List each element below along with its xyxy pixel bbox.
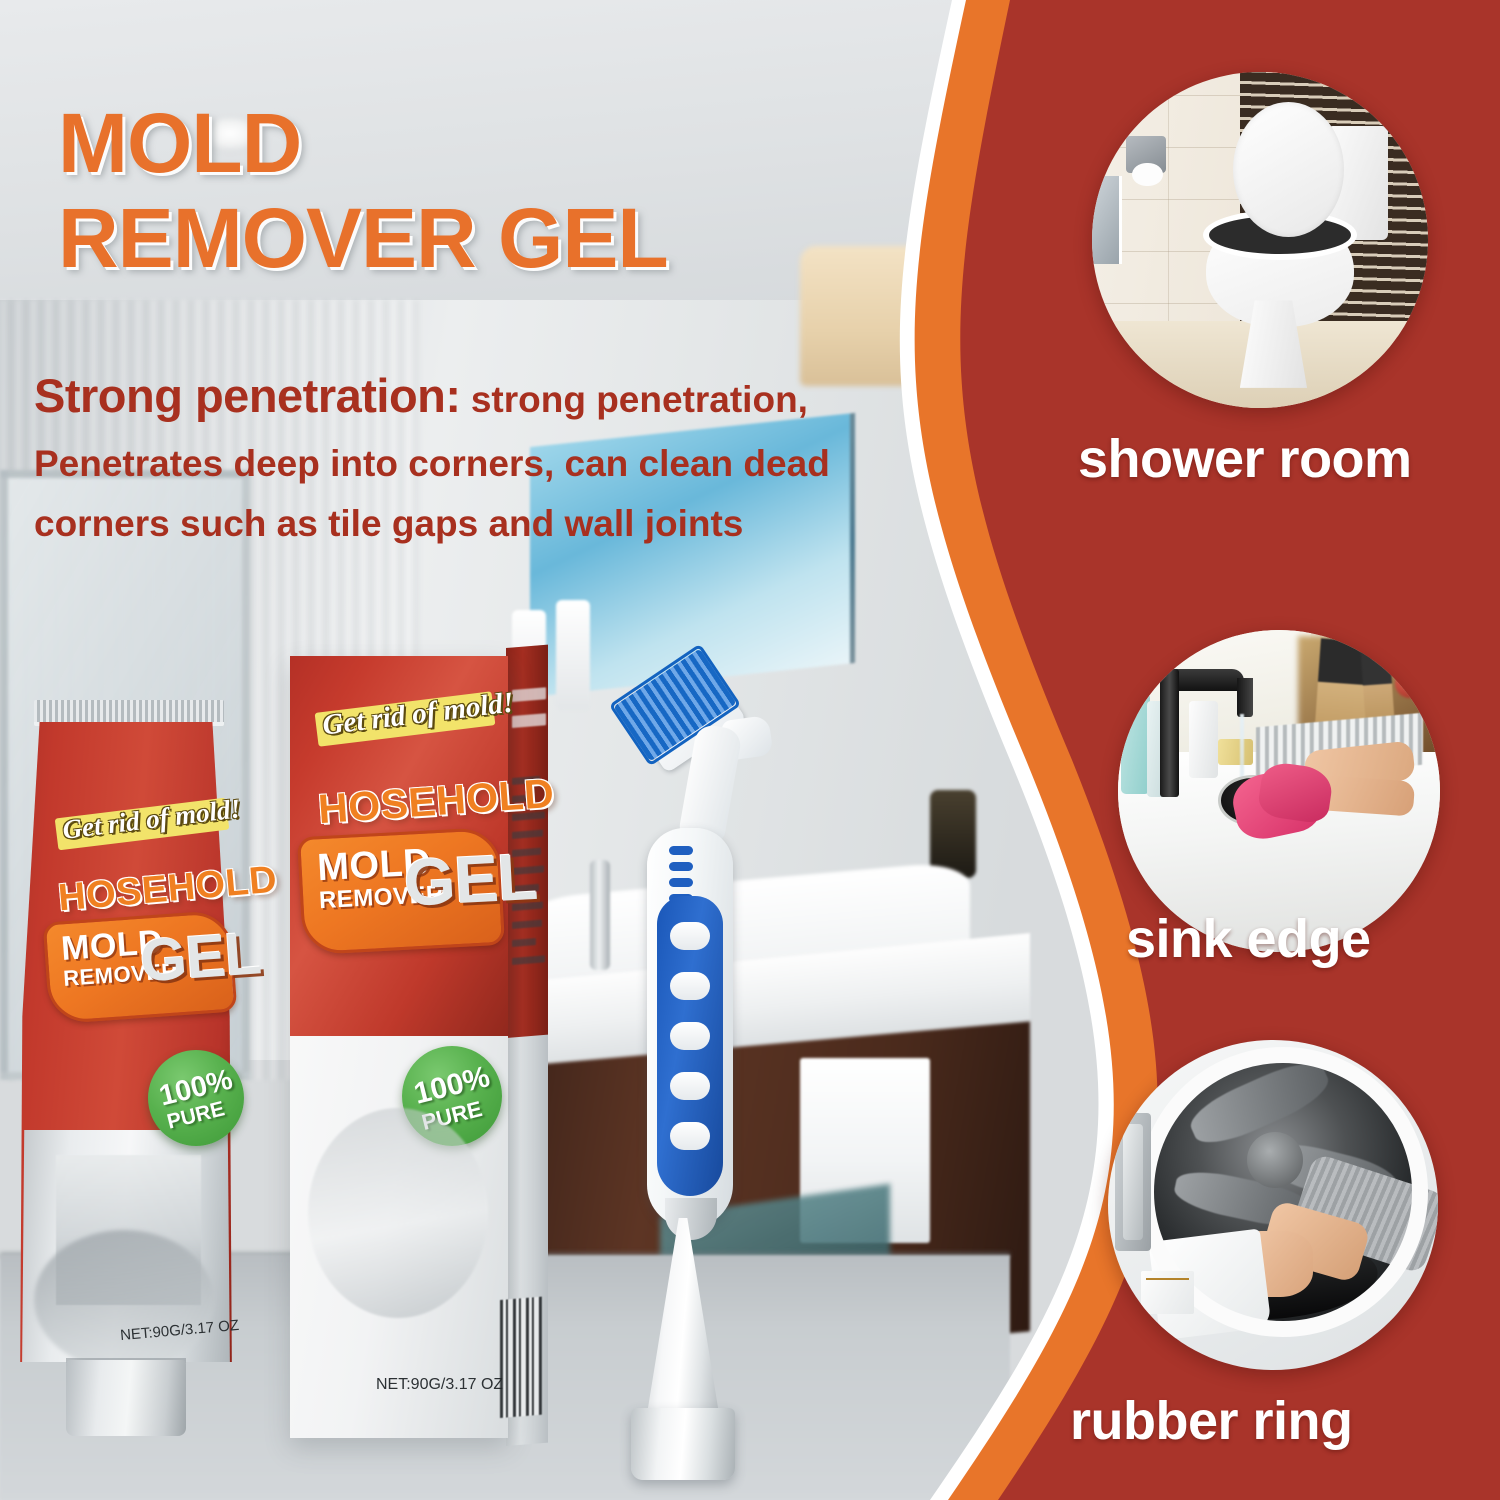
- brush-grip-slot-1: [670, 922, 710, 950]
- box-side-ingredients-text: [512, 765, 546, 1198]
- box-gradient-ellipse: [308, 1108, 488, 1318]
- barcode-icon: [500, 1297, 542, 1418]
- page-title: MOLD REMOVER GEL: [58, 96, 938, 286]
- use-case-image-rubber-ring: [1108, 1040, 1438, 1370]
- tube-product-name: MOLD REMOVER GEL: [60, 924, 179, 992]
- nozzle-base-cap: [631, 1408, 735, 1480]
- headline-line-1: MOLD: [58, 96, 301, 190]
- brush-grip-slot-3: [670, 1022, 710, 1050]
- use-case-image-shower-room: [1092, 72, 1428, 408]
- brush-grip-slot-5: [670, 1122, 710, 1150]
- brush-grip-slot-2: [670, 972, 710, 1000]
- tube-gradient-ellipse: [34, 1230, 214, 1370]
- feature-description: Strong penetration: strong penetration, …: [34, 358, 969, 554]
- applicator-nozzle: [625, 1218, 745, 1480]
- brush-grip-slot-4: [670, 1072, 710, 1100]
- use-case-image-sink-edge: [1118, 630, 1440, 952]
- box-side-top-text: [512, 661, 546, 764]
- box-name-gel: GEL: [403, 844, 539, 915]
- counter-cylinder-2: [556, 600, 590, 710]
- box-net-weight: NET:90G/3.17 OZ: [376, 1376, 503, 1394]
- tube-cap: [66, 1360, 186, 1436]
- tube-name-gel: GEL: [138, 924, 262, 990]
- product-listing-image: MOLD REMOVER GEL Strong penetration: str…: [0, 0, 1500, 1500]
- tube-purity-badge: 100% PURE: [148, 1050, 244, 1146]
- use-case-caption-shower-room: shower room: [1078, 428, 1412, 490]
- brush-grip: [657, 896, 723, 1196]
- box-product-name: MOLD REMOVER GEL: [316, 843, 444, 915]
- use-case-caption-rubber-ring: rubber ring: [1070, 1390, 1353, 1452]
- use-case-caption-sink-edge: sink edge: [1126, 908, 1371, 970]
- product-tube: Get rid of mold! HOSEHOLD MOLD REMOVER G…: [10, 700, 242, 1440]
- nozzle-cone: [647, 1218, 719, 1414]
- feature-lead-label: Strong penetration:: [34, 369, 461, 422]
- headline-line-2: REMOVER GEL: [58, 191, 938, 286]
- cleaning-brush: [595, 660, 785, 1260]
